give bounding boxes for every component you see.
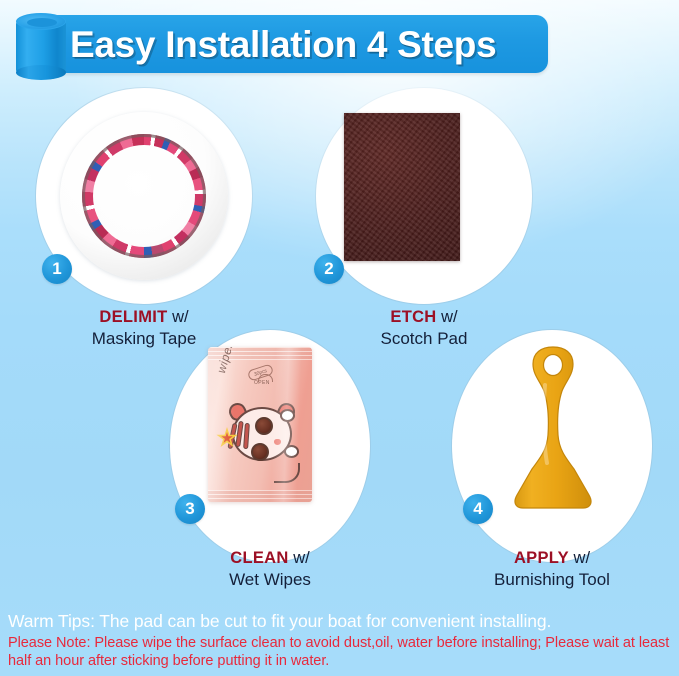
scotch-pad-image bbox=[344, 113, 460, 261]
tape-roll-icon bbox=[10, 10, 72, 78]
step-4-badge: 4 bbox=[463, 494, 493, 524]
step-2-badge: 2 bbox=[314, 254, 344, 284]
please-note-text: Please Note: Please wipe the surface cle… bbox=[8, 634, 676, 670]
header-banner: Easy Installation 4 Steps bbox=[10, 8, 550, 80]
masking-tape-roll-image bbox=[60, 112, 228, 280]
step-3-connector: w/ bbox=[289, 549, 310, 567]
step-1-tool: Masking Tape bbox=[24, 328, 264, 349]
step-4-tool: Burnishing Tool bbox=[438, 569, 666, 590]
step-1-caption: DELIMIT w/ Masking Tape bbox=[24, 307, 264, 349]
step-3-caption: CLEAN w/ Wet Wipes bbox=[160, 548, 380, 590]
step-3-badge: 3 bbox=[175, 494, 205, 524]
step-1-connector: w/ bbox=[168, 308, 189, 326]
installation-steps-poster: Easy Installation 4 Steps 1 DELIMIT w/ M… bbox=[0, 0, 679, 676]
step-1-action: DELIMIT bbox=[99, 308, 167, 326]
step-2-caption: ETCH w/ Scotch Pad bbox=[312, 307, 536, 349]
page-title: Easy Installation 4 Steps bbox=[70, 16, 548, 74]
footer-notes: Warm Tips: The pad can be cut to fit you… bbox=[8, 611, 676, 670]
warm-tips-text: Warm Tips: The pad can be cut to fit you… bbox=[8, 611, 676, 632]
wet-wipes-pack-image: wipes 30pcs OPEN bbox=[208, 347, 312, 502]
step-3-action: CLEAN bbox=[230, 549, 288, 567]
step-2-tool: Scotch Pad bbox=[312, 328, 536, 349]
burnishing-tool-image bbox=[505, 345, 601, 521]
step-4-action: APPLY bbox=[514, 549, 569, 567]
step-4-caption: APPLY w/ Burnishing Tool bbox=[438, 548, 666, 590]
step-4-connector: w/ bbox=[569, 549, 590, 567]
step-3-tool: Wet Wipes bbox=[160, 569, 380, 590]
step-1-badge: 1 bbox=[42, 254, 72, 284]
step-2-connector: w/ bbox=[437, 308, 458, 326]
step-2-action: ETCH bbox=[390, 308, 436, 326]
